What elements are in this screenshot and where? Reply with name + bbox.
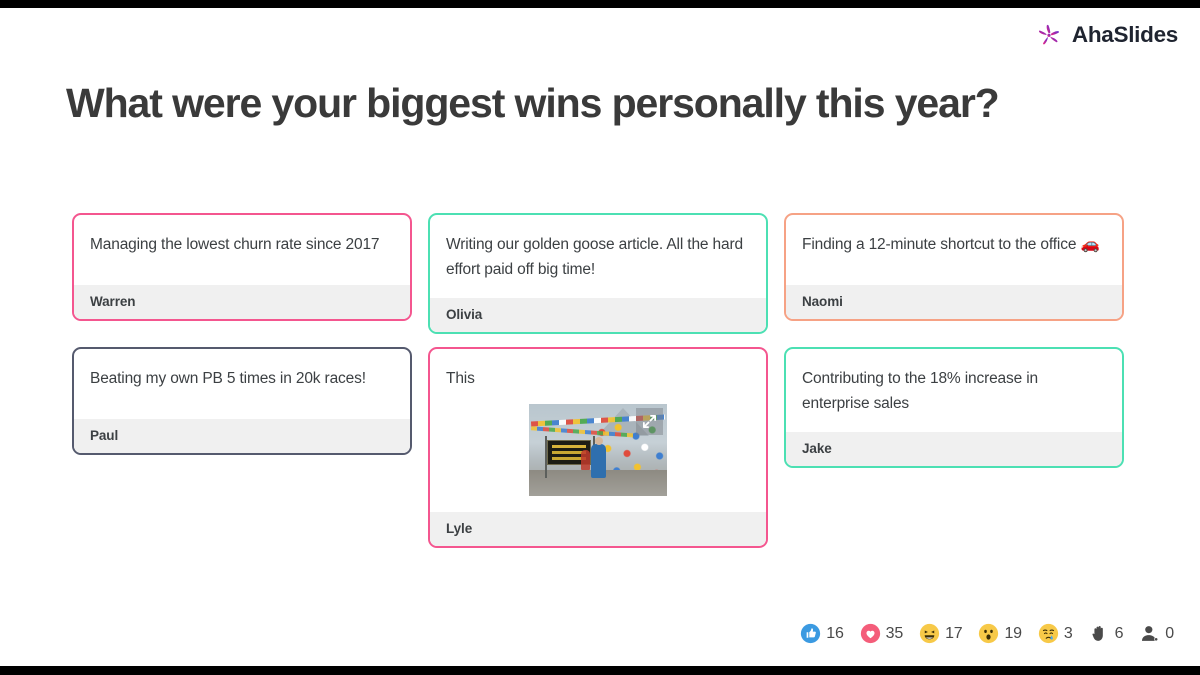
reaction-count: 19 <box>1004 625 1021 643</box>
responses-grid: Managing the lowest churn rate since 201… <box>72 213 1132 548</box>
response-card[interactable]: Finding a 12-minute shortcut to the offi… <box>784 213 1124 321</box>
reaction-count: 16 <box>826 625 843 643</box>
reaction-raised-hand[interactable]: 6 <box>1089 623 1124 644</box>
brand-name: AhaSlides <box>1072 24 1178 47</box>
reaction-surprised[interactable]: 19 <box>978 623 1021 644</box>
response-author: Lyle <box>430 512 766 546</box>
response-card[interactable]: Managing the lowest churn rate since 201… <box>72 213 412 321</box>
response-card-body: This <box>430 349 766 512</box>
reaction-thumbs-up[interactable]: 16 <box>800 623 843 644</box>
response-author: Paul <box>74 419 410 453</box>
car-emoji: 🚗 <box>1076 236 1099 253</box>
response-card-body: Beating my own PB 5 times in 20k races! <box>74 349 410 419</box>
response-card-body: Contributing to the 18% increase in ente… <box>786 349 1122 432</box>
response-author: Warren <box>74 285 410 319</box>
response-card-body: Managing the lowest churn rate since 201… <box>74 215 410 285</box>
reaction-crying[interactable]: 3 <box>1038 623 1073 644</box>
response-card[interactable]: This Lyle <box>428 347 768 548</box>
presentation-frame: AhaSlides What were your biggest wins pe… <box>0 0 1200 675</box>
crying-icon[interactable] <box>1038 623 1059 644</box>
page-title: What were your biggest wins personally t… <box>66 78 1156 128</box>
response-text: This <box>446 366 750 391</box>
surprised-icon[interactable] <box>978 623 999 644</box>
response-card[interactable]: Writing our golden goose article. All th… <box>428 213 768 334</box>
slide-canvas: AhaSlides What were your biggest wins pe… <box>0 8 1200 666</box>
expand-image-icon[interactable] <box>636 408 663 435</box>
responses-board: Managing the lowest churn rate since 201… <box>72 213 1132 548</box>
letterbox-top-bar <box>0 0 1200 8</box>
response-text: Managing the lowest churn rate since 201… <box>90 232 394 257</box>
reaction-count: 0 <box>1165 625 1174 643</box>
response-author: Naomi <box>786 285 1122 319</box>
laughing-icon[interactable] <box>919 623 940 644</box>
thumbs-up-icon[interactable] <box>800 623 821 644</box>
reaction-participant[interactable]: 0 <box>1139 623 1174 644</box>
reaction-heart[interactable]: 35 <box>860 623 903 644</box>
response-card-body: Finding a 12-minute shortcut to the offi… <box>786 215 1122 285</box>
reaction-laughing[interactable]: 17 <box>919 623 962 644</box>
reaction-count: 35 <box>886 625 903 643</box>
heart-icon[interactable] <box>860 623 881 644</box>
ahaslides-starburst-icon <box>1036 22 1063 49</box>
response-photo-wrap[interactable] <box>529 404 667 496</box>
response-text: Beating my own PB 5 times in 20k races! <box>90 366 394 391</box>
ahaslides-logo: AhaSlides <box>1036 22 1178 49</box>
response-author: Jake <box>786 432 1122 466</box>
reaction-bar: 16 35 17 19 36 0 <box>800 623 1174 644</box>
reaction-count: 17 <box>945 625 962 643</box>
participant-icon[interactable] <box>1139 623 1160 644</box>
response-card[interactable]: Beating my own PB 5 times in 20k races!P… <box>72 347 412 455</box>
response-text: Contributing to the 18% increase in ente… <box>802 366 1106 416</box>
raised-hand-icon[interactable] <box>1089 623 1110 644</box>
response-card[interactable]: Contributing to the 18% increase in ente… <box>784 347 1124 468</box>
response-author: Olivia <box>430 298 766 332</box>
reaction-count: 3 <box>1064 625 1073 643</box>
response-card-body: Writing our golden goose article. All th… <box>430 215 766 298</box>
reaction-count: 6 <box>1115 625 1124 643</box>
response-text: Writing our golden goose article. All th… <box>446 232 750 282</box>
response-text: Finding a 12-minute shortcut to the offi… <box>802 232 1106 257</box>
letterbox-bottom-bar <box>0 666 1200 675</box>
